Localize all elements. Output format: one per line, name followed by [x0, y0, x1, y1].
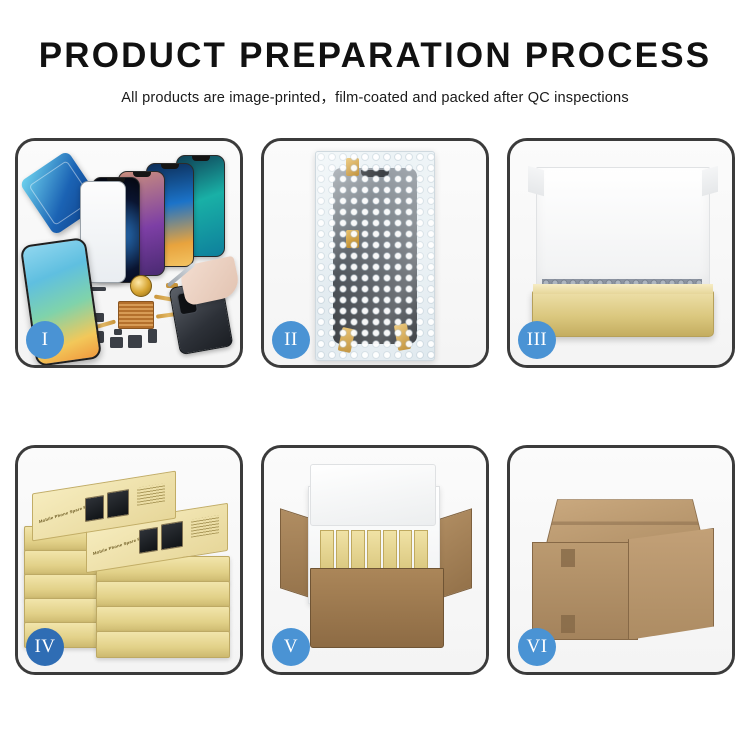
small-part	[148, 329, 157, 343]
process-step-grid: I II III	[15, 138, 735, 675]
sealed-shipping-carton	[526, 476, 718, 644]
carton-front-face	[532, 542, 638, 640]
step-badge-1: I	[26, 321, 64, 359]
product-photo-swatch	[107, 489, 129, 518]
chip-array-part	[118, 301, 154, 329]
process-step-panel-6[interactable]: VI	[507, 445, 735, 675]
step-badge-3: III	[518, 321, 556, 359]
small-part	[110, 337, 123, 348]
step-badge-6: VI	[518, 628, 556, 666]
gold-coil-part	[130, 275, 152, 297]
page-title: PRODUCT PREPARATION PROCESS	[0, 38, 750, 75]
bubble-wrap-package	[315, 151, 435, 361]
product-photo-swatch	[85, 495, 104, 522]
product-photo-swatch	[139, 527, 158, 554]
stacked-box-edge	[96, 631, 230, 658]
open-inner-box	[528, 167, 716, 343]
process-step-panel-2[interactable]: II	[261, 138, 489, 368]
carton-side-face	[628, 528, 714, 640]
carton-tape-mark	[561, 615, 575, 633]
notch-icon	[161, 164, 179, 169]
step-badge-5: V	[272, 628, 310, 666]
white-foam-lid	[536, 167, 710, 289]
stacked-box-edge	[96, 581, 230, 608]
kraft-box-tray	[532, 291, 714, 337]
process-step-panel-1[interactable]: I	[15, 138, 243, 368]
process-step-panel-4[interactable]: Mobile Phone Spare Parts Mobile Phone Sp…	[15, 445, 243, 675]
spec-text-block	[137, 483, 165, 505]
carton-body	[310, 568, 444, 648]
carton-tape-mark	[561, 549, 575, 567]
plastic-sheen	[316, 152, 434, 360]
process-step-panel-3[interactable]: III	[507, 138, 735, 368]
stacked-box-edge	[96, 606, 230, 633]
open-shipping-carton	[280, 470, 472, 656]
notch-icon	[192, 156, 210, 161]
spec-text-block	[191, 515, 219, 537]
notch-icon	[133, 172, 151, 177]
page-subtitle: All products are image-printed，film-coat…	[0, 86, 750, 107]
small-part	[128, 335, 142, 348]
process-step-panel-5[interactable]: V	[261, 445, 489, 675]
foam-box-lid	[310, 464, 436, 526]
page-header: PRODUCT PREPARATION PROCESS All products…	[0, 0, 750, 107]
step-badge-4: IV	[26, 628, 64, 666]
step-badge-2: II	[272, 321, 310, 359]
small-part	[114, 329, 122, 335]
product-photo-swatch	[161, 521, 183, 550]
